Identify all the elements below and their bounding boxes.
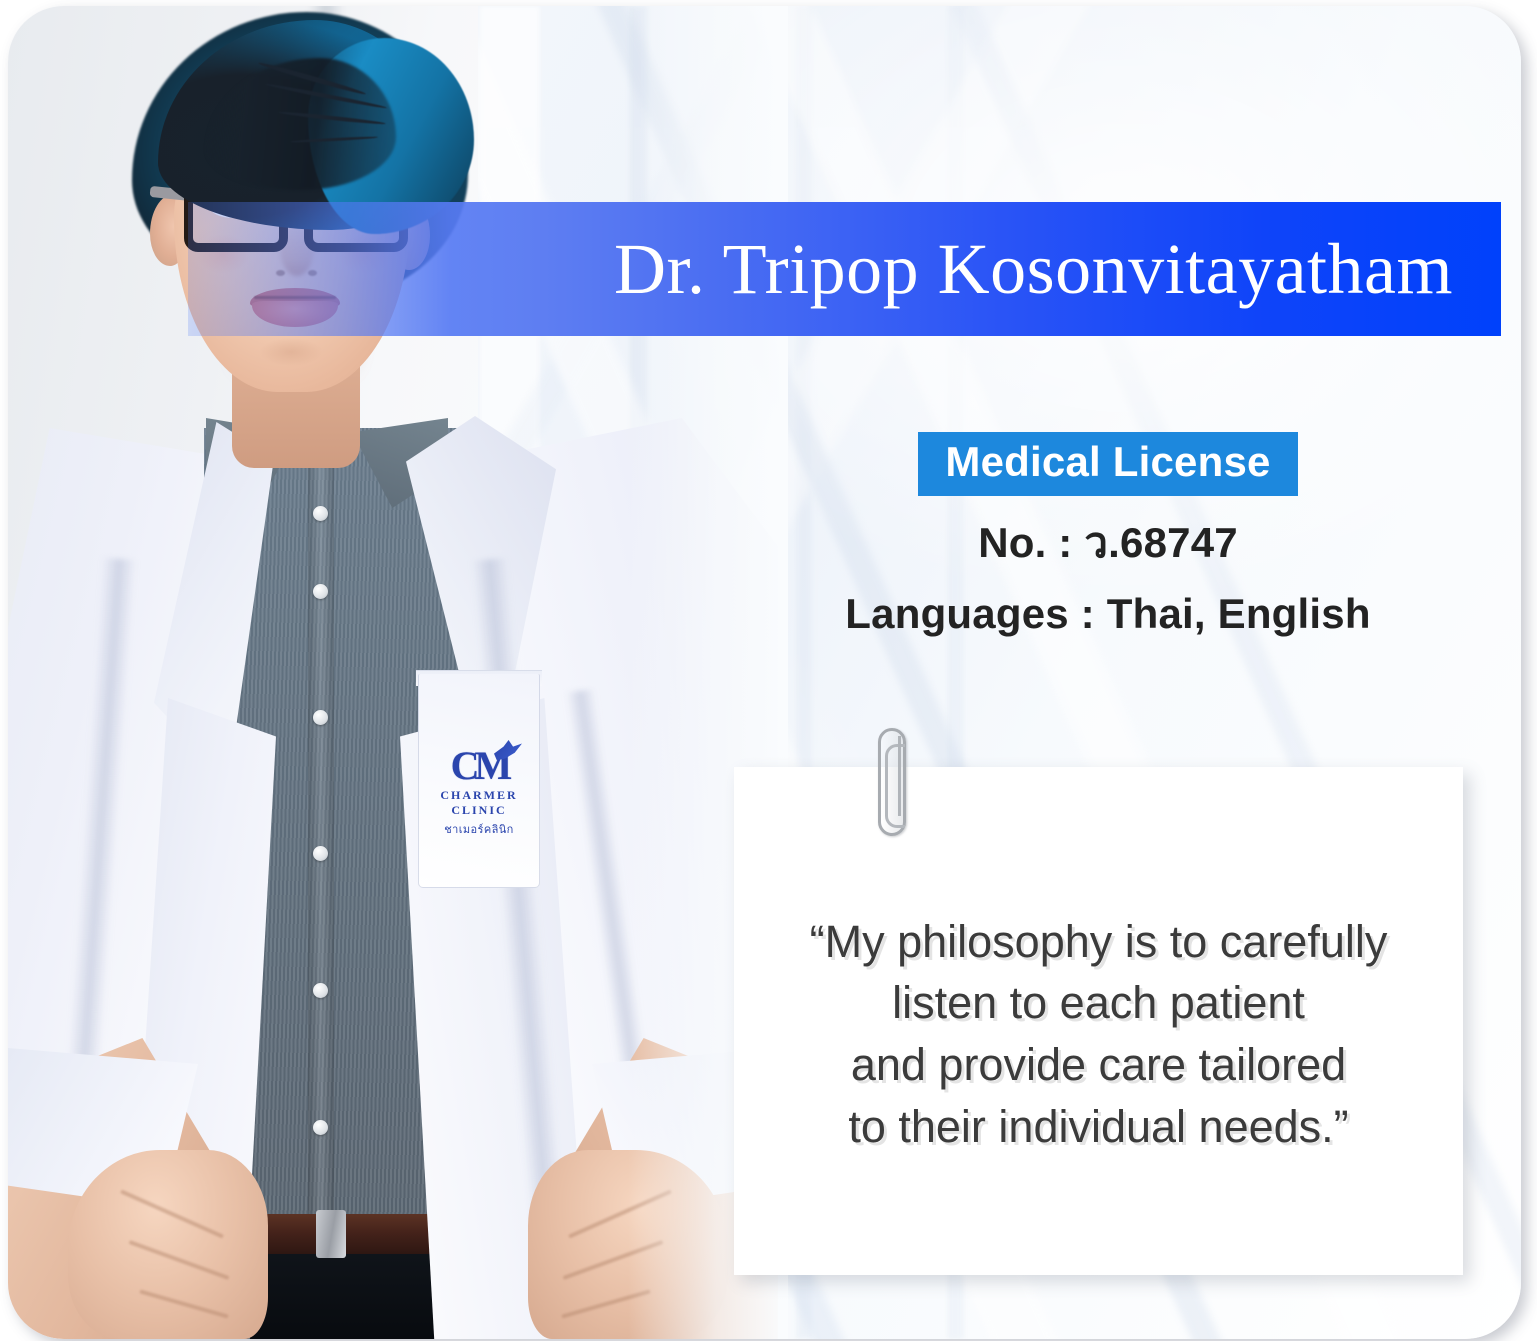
belt-buckle	[316, 1210, 346, 1258]
shirt-button	[313, 1120, 328, 1135]
doctor-profile-card: CM CHARMER CLINIC ชาเมอร์คลินิก	[0, 0, 1537, 1341]
license-languages: Languages : Thai, English	[768, 590, 1448, 638]
license-number: No. : ว.68747	[768, 510, 1448, 576]
shirt-button	[313, 584, 328, 599]
shirt-button	[313, 846, 328, 861]
hand-left	[68, 1150, 268, 1339]
clinic-logo: CM CHARMER CLINIC ชาเมอร์คลินิก	[420, 746, 538, 854]
clinic-logo-monogram: CM	[420, 746, 538, 786]
philosophy-quote-card: “My philosophy is to carefully listen to…	[734, 767, 1463, 1275]
shirt-button	[313, 983, 328, 998]
hand-right	[528, 1150, 728, 1339]
shirt-button	[313, 506, 328, 521]
doctor-name-banner: Dr. Tripop Kosonvitayatham	[188, 202, 1501, 336]
card-surface: CM CHARMER CLINIC ชาเมอร์คลินิก	[8, 6, 1521, 1339]
chin	[260, 338, 322, 366]
medical-license-badge: Medical License	[918, 432, 1297, 496]
philosophy-quote-text: “My philosophy is to carefully listen to…	[784, 911, 1414, 1158]
clinic-logo-name: CHARMER CLINIC	[420, 788, 538, 818]
license-block: Medical License No. : ว.68747 Languages …	[768, 432, 1448, 638]
paperclip-inner-loop	[885, 744, 905, 828]
paperclip-tail	[898, 736, 901, 816]
shirt-button	[313, 710, 328, 725]
clinic-logo-name-thai: ชาเมอร์คลินิก	[420, 820, 538, 838]
paperclip-icon	[874, 728, 910, 840]
doctor-name: Dr. Tripop Kosonvitayatham	[614, 233, 1453, 305]
